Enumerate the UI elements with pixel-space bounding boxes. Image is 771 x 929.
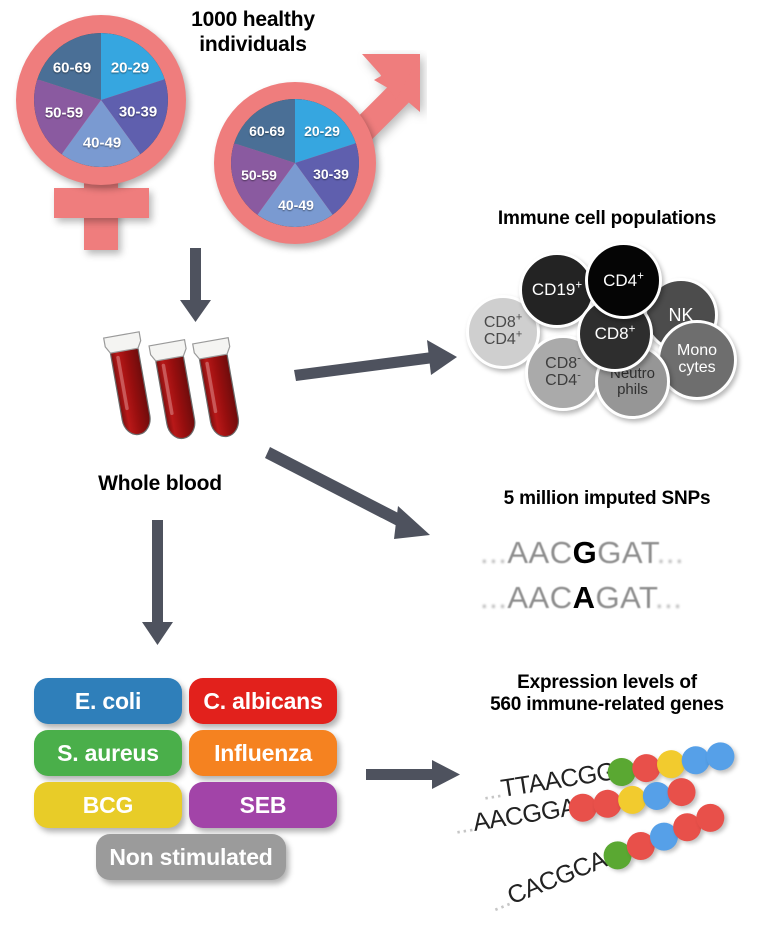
immune-cells-title: Immune cell populations [452,208,762,230]
cell-cd19-label: CD19+ [532,281,582,299]
snp1-suffix: ... [657,535,684,570]
cell-monocytes-label2: cytes [677,360,717,377]
snp-allele-row-2: ...AACAGAT... [480,580,682,616]
snp2-prefix: ... [480,580,507,615]
cell-cd4-label: CD4+ [603,272,644,290]
stimulus-c-albicans[interactable]: C. albicans [189,678,337,724]
snp1-prefix: ... [480,535,507,570]
cell-cd8-cd4-neg-label2: CD4- [545,373,581,390]
snp1-left: AAC [507,535,572,570]
stimulus-non-stimulated[interactable]: Non stimulated [96,834,286,880]
snp1-variant: G [573,535,598,570]
cell-cd8-label: CD8+ [595,325,636,343]
whole-blood-tubes [100,330,265,460]
stimuli-panel: E. coli C. albicans S. aureus Influenza … [34,678,344,898]
stimulus-e-coli[interactable]: E. coli [34,678,182,724]
expression-title-line1: Expression levels of [452,672,762,694]
cell-monocytes-label1: Mono [677,343,717,360]
cell-neutrophils-label2: phils [610,382,655,398]
stimulus-s-aureus[interactable]: S. aureus [34,730,182,776]
snp2-variant: A [573,580,596,615]
arrow-down-cohort-to-blood [180,248,211,322]
arrow-right-blood-to-cells [294,340,457,381]
snp1-right: GAT [597,535,657,570]
blood-tubes-svg [100,330,265,460]
cell-cd8-cd4-pos-label2: CD4+ [484,332,522,349]
blood-tube-3 [193,338,245,440]
snp-sequences: ...AACGGAT... ...AACAGAT... [480,535,760,625]
blood-tube-1 [104,332,157,438]
snp-allele-row-1: ...AACGGAT... [480,535,684,571]
arrow-down-blood-to-stimuli [142,520,173,645]
snp2-right: GAT [595,580,655,615]
snp2-left: AAC [507,580,572,615]
arrow-right-stimuli-to-expression [366,760,460,789]
cell-cd4: CD4+ [585,242,662,319]
expression-title-line2: 560 immune-related genes [452,694,762,716]
stimulus-influenza[interactable]: Influenza [189,730,337,776]
expression-strands: ...TTAACGG ...AACGGAT ...CACGCAA [455,740,771,915]
whole-blood-label: Whole blood [70,472,250,497]
immune-cells-cluster: CD8+ CD4+ CD19+ CD4+ NK CD8+ Mono cytes [460,240,750,420]
snp2-suffix: ... [655,580,682,615]
expression-title: Expression levels of 560 immune-related … [452,672,762,717]
arrow-diagonal-blood-to-snps [265,447,430,539]
blood-tube-2 [149,340,201,442]
stimulus-bcg[interactable]: BCG [34,782,182,828]
strand-middle-bead-5 [666,776,698,808]
stimulus-seb[interactable]: SEB [189,782,337,828]
cell-cd8-cd4-neg-label1: CD8- [545,356,581,373]
snps-title: 5 million imputed SNPs [452,488,762,510]
